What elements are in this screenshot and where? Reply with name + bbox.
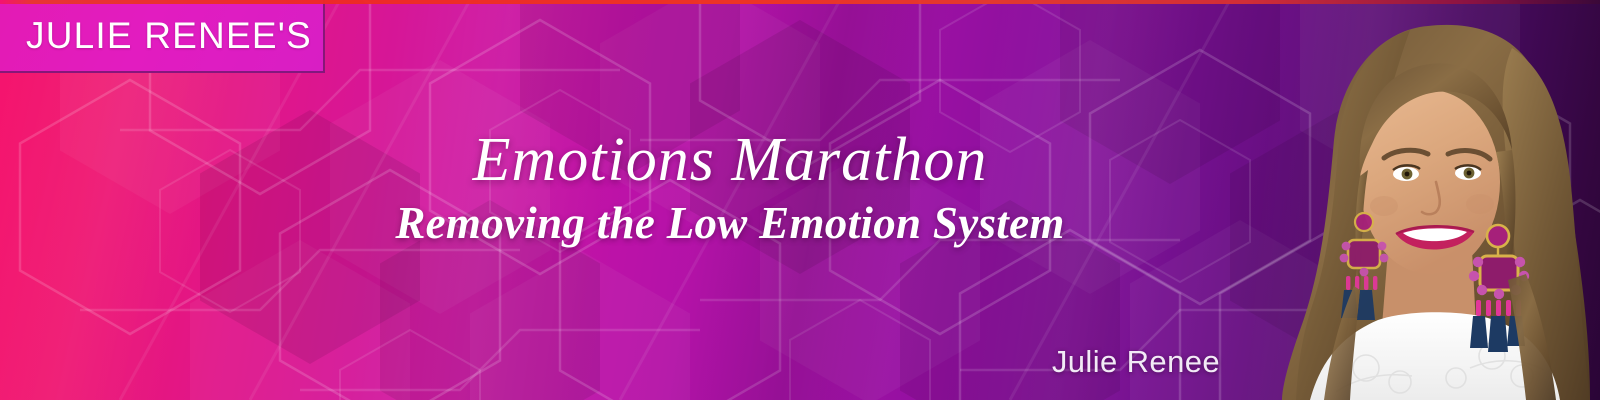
brand-badge: JULIE RENEE'S — [0, 0, 325, 73]
promo-banner: JULIE RENEE'S Emotions Marathon Removing… — [0, 0, 1600, 400]
headline-block: Emotions Marathon Removing the Low Emoti… — [300, 128, 1160, 249]
presenter-photo — [1260, 0, 1600, 400]
brand-badge-label: JULIE RENEE'S — [0, 17, 312, 54]
presenter-name: Julie Renee — [1052, 344, 1220, 380]
page-title: Emotions Marathon — [300, 128, 1160, 193]
page-subtitle: Removing the Low Emotion System — [300, 199, 1160, 249]
top-accent-strip — [0, 0, 1600, 4]
